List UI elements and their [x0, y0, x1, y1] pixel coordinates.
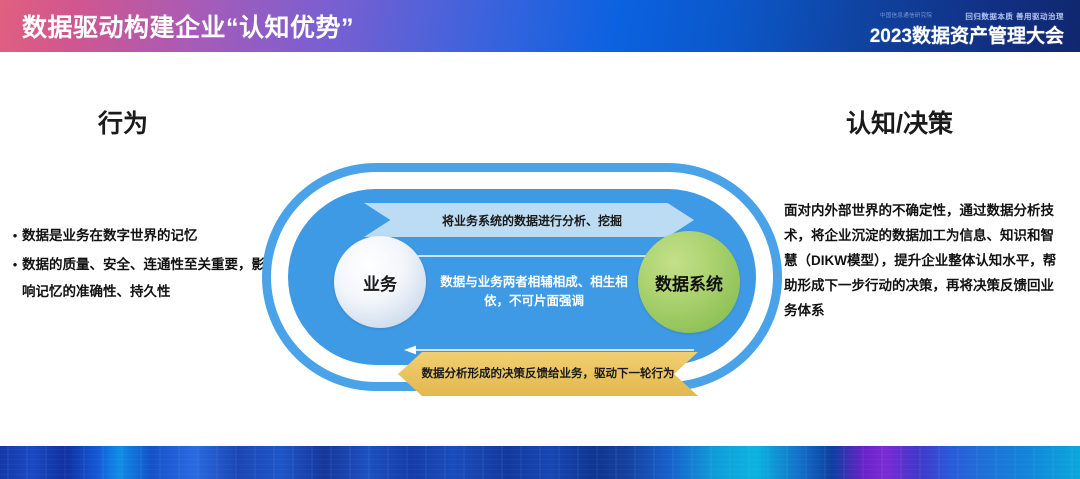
conference-logo: 中国信息通信研究院 回归数据本质 善用驱动治理 2023数据资产管理大会 — [876, 5, 1066, 49]
left-bullet-list: • 数据是业务在数字世界的记忆 • 数据的质量、安全、连通性至关重要，影响记忆的… — [8, 222, 270, 307]
node-business-label: 业务 — [363, 270, 397, 295]
left-column-heading: 行为 — [98, 104, 148, 140]
bottom-arrow-label: 数据分析形成的决策反馈给业务，驱动下一轮行为 — [422, 366, 675, 382]
top-arrow-banner: 将业务系统的数据进行分析、挖掘 — [364, 203, 694, 237]
bullet-marker-icon: • — [8, 222, 22, 249]
conference-logo-title: 2023数据资产管理大会 — [870, 21, 1064, 48]
bottom-arrow-banner: 数据分析形成的决策反馈给业务，驱动下一轮行为 — [398, 352, 698, 396]
node-data-system: 数据系统 — [638, 231, 740, 333]
bullet-text: 数据的质量、安全、连通性至关重要，影响记忆的准确性、持久性 — [22, 251, 270, 305]
right-column-heading: 认知/决策 — [846, 104, 953, 140]
list-item: • 数据是业务在数字世界的记忆 — [8, 222, 270, 249]
bullet-marker-icon: • — [8, 251, 22, 278]
bottom-decorative-band — [0, 446, 1080, 479]
capsule-inner-fill: 将业务系统的数据进行分析、挖掘 业务 数据系统 数据与业务两者相辅相成、相生相依… — [288, 189, 756, 365]
list-item: • 数据的质量、安全、连通性至关重要，影响记忆的准确性、持久性 — [8, 251, 270, 305]
flow-arrow-left-icon — [404, 342, 694, 352]
bottom-band-texture — [0, 446, 1080, 479]
top-arrow-label: 将业务系统的数据进行分析、挖掘 — [436, 212, 622, 229]
header-bar: 数据驱动构建企业“认知优势” 中国信息通信研究院 回归数据本质 善用驱动治理 2… — [0, 0, 1080, 52]
node-data-system-label: 数据系统 — [655, 270, 723, 295]
page-title: 数据驱动构建企业“认知优势” — [22, 8, 354, 44]
conference-logo-institute: 中国信息通信研究院 — [880, 11, 932, 19]
bullet-text: 数据是业务在数字世界的记忆 — [22, 222, 270, 249]
diagram-center-label: 数据与业务两者相辅相成、相生相依，不可片面强调 — [434, 273, 634, 311]
node-business: 业务 — [334, 236, 426, 328]
right-column-paragraph: 面对内外部世界的不确定性，通过数据分析技术，将企业沉淀的数据加工为信息、知识和智… — [784, 198, 1066, 323]
cycle-diagram: 将业务系统的数据进行分析、挖掘 业务 数据系统 数据与业务两者相辅相成、相生相依… — [262, 163, 782, 391]
